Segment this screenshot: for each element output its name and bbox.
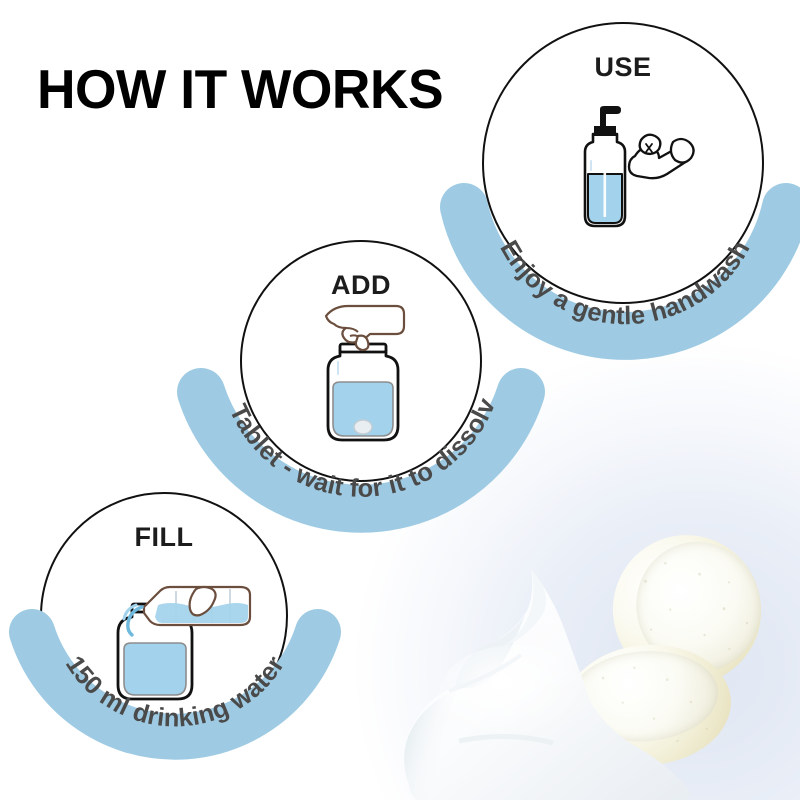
infographic-canvas: HOW IT WORKS USE: [0, 0, 800, 800]
soap-foam: [395, 535, 695, 800]
product-photo: [395, 505, 800, 800]
step-fill-label: FILL: [40, 522, 288, 553]
step-add-banner: 1 Tablet - wait for it to dissolve: [175, 368, 547, 528]
step-use-banner: Enjoy a gentle handwash: [440, 185, 800, 335]
step-use-label: USE: [482, 52, 764, 83]
step-fill-banner: 150 ml drinking water: [10, 610, 340, 770]
page-title: HOW IT WORKS: [37, 62, 443, 117]
step-add-label: ADD: [240, 270, 482, 301]
